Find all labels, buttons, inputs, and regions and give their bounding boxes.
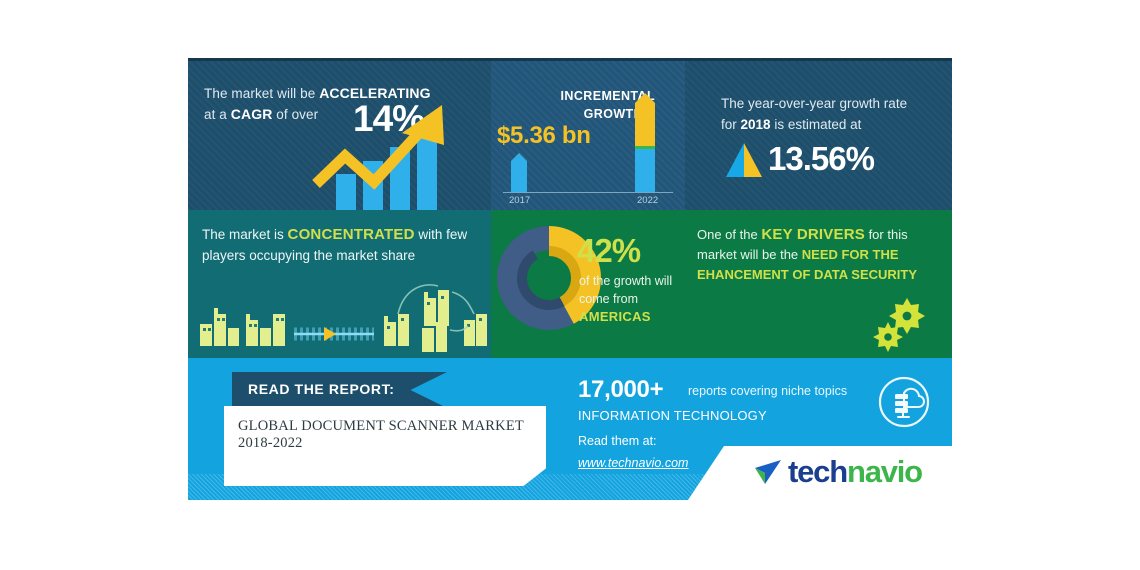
website-link[interactable]: www.technavio.com <box>578 456 688 470</box>
city-buildings-icon <box>188 210 491 358</box>
read-them-at-label: Read them at: <box>578 434 657 448</box>
year-label-start: 2017 <box>509 195 530 206</box>
donut-region: AMERICAS <box>579 309 651 324</box>
triangle-up-icon <box>685 61 952 210</box>
panel-key-drivers: One of the KEY DRIVERS for this market w… <box>685 210 952 358</box>
infographic-canvas: The market will be ACCELERATING at a CAG… <box>0 0 1140 570</box>
report-count: 17,000+ <box>578 376 663 404</box>
rising-bar-chart-with-arrow-icon <box>188 61 491 210</box>
logo-text-tech: tech <box>788 454 847 489</box>
panel-cagr: The market will be ACCELERATING at a CAG… <box>188 58 491 210</box>
bar-axis-line <box>503 192 673 193</box>
report-count-subtitle: reports covering niche topics <box>688 384 847 398</box>
donut-sub-line2: come from <box>579 292 638 306</box>
panel-regional-share: 42% of the growth will come from AMERICA… <box>491 210 685 358</box>
logo-text: technavio <box>788 454 922 490</box>
donut-sub-line1: of the growth will <box>579 274 672 288</box>
infographic: The market will be ACCELERATING at a CAG… <box>188 58 952 500</box>
panel-footer: READ THE REPORT: GLOBAL DOCUMENT SCANNER… <box>188 358 952 500</box>
sector-label: INFORMATION TECHNOLOGY <box>578 408 767 423</box>
technavio-logo: technavio <box>753 454 922 490</box>
yoy-value: 13.56% <box>768 140 874 178</box>
incremental-growth-bars <box>491 61 685 210</box>
panel-concentration: The market is CONCENTRATED with few play… <box>188 210 491 358</box>
donut-value: 42% <box>577 232 640 270</box>
read-the-report-label: READ THE REPORT: <box>248 381 395 397</box>
report-title: GLOBAL DOCUMENT SCANNER MARKET 2018-2022 <box>238 418 538 452</box>
cloud-server-icon <box>877 375 931 429</box>
paper-plane-icon <box>753 458 783 486</box>
panel-incremental-growth: INCREMENTAL GROWTH $5.36 bn 2017 2022 <box>491 58 685 210</box>
logo-text-navio: navio <box>847 454 922 489</box>
donut-subtext: of the growth will come from AMERICAS <box>579 272 684 326</box>
year-label-end: 2022 <box>637 195 658 206</box>
gears-icon <box>685 210 952 358</box>
panel-yoy-growth: The year-over-year growth rate for 2018 … <box>685 58 952 210</box>
